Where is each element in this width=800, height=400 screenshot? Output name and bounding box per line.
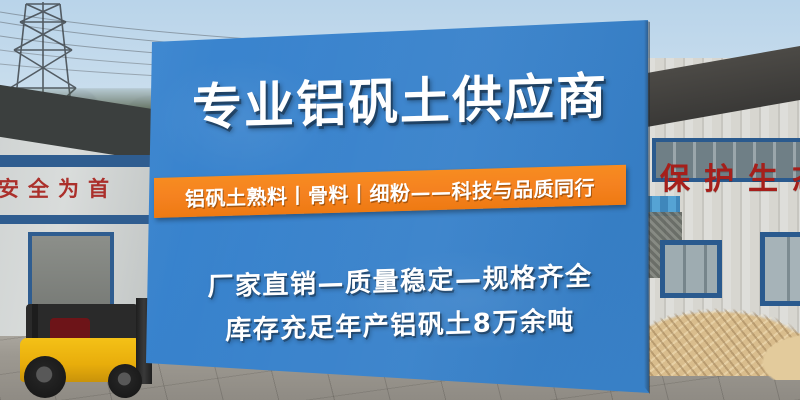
- page-title: 专业铝矾土供应商: [152, 70, 648, 134]
- subheadline-line-1: 厂家直销—质量稳定—规格齐全: [152, 254, 648, 305]
- subheadline-line-2: 库存充足年产铝矾土8万余吨: [152, 298, 648, 349]
- orange-ribbon: 铝矾土熟料丨骨料丨细粉——科技与品质同行: [154, 165, 626, 218]
- orange-ribbon-text: 铝矾土熟料丨骨料丨细粉——科技与品质同行: [154, 165, 626, 218]
- billboard-content: 专业铝矾土供应商 铝矾土熟料丨骨料丨细粉——科技与品质同行 厂家直销—质量稳定—…: [152, 18, 648, 390]
- banner-stage: 安全为首 保护生态: [0, 0, 800, 400]
- blue-billboard-panel: 专业铝矾土供应商 铝矾土熟料丨骨料丨细粉——科技与品质同行 厂家直销—质量稳定—…: [0, 0, 800, 400]
